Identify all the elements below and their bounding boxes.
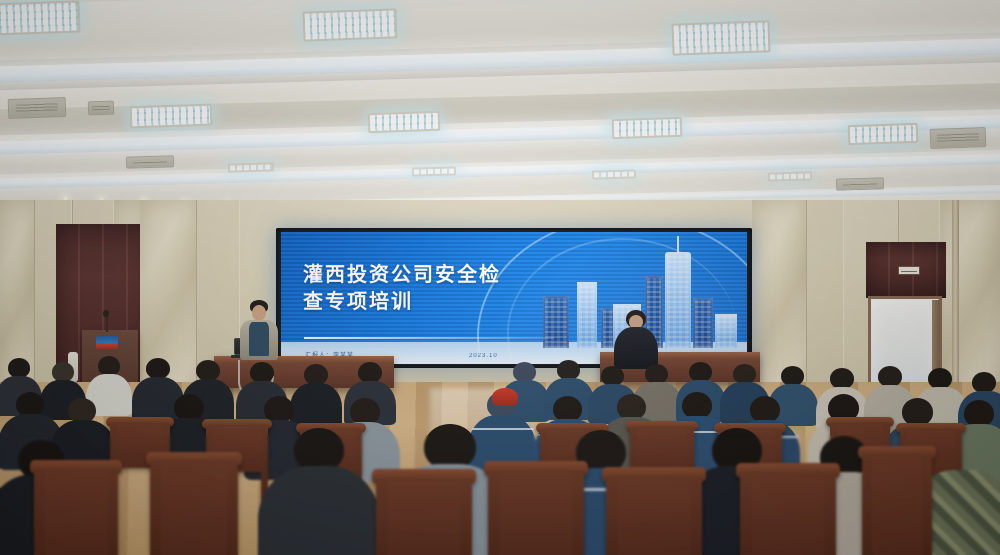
slide-surface: 灌西投资公司安全检查专项培训 汇报人：李某某 2023.10 [281, 232, 747, 364]
ac-diffuser [836, 177, 884, 190]
wooden-chair[interactable] [606, 478, 702, 555]
led-display[interactable]: 灌西投资公司安全检查专项培训 汇报人：李某某 2023.10 [276, 228, 752, 368]
exit-sign[interactable] [898, 266, 920, 275]
ceiling-panel-light [848, 123, 919, 145]
wooden-chair[interactable] [740, 474, 836, 555]
slide-date: 2023.10 [469, 353, 498, 359]
ceiling-panel-light [303, 8, 398, 41]
seated-staff-member [612, 310, 660, 366]
skyline-building [577, 282, 597, 348]
skyline-tower [665, 252, 691, 348]
wooden-chair[interactable] [150, 462, 238, 555]
ceiling-panel-light [0, 0, 81, 35]
audience-member [920, 470, 1000, 555]
ceiling [0, 0, 1000, 215]
microphone-icon [103, 310, 109, 317]
ceiling-panel-light [130, 104, 213, 129]
presenter-vest [249, 322, 269, 356]
audience-member [272, 428, 368, 555]
ceiling-panel-light [228, 162, 274, 172]
wooden-chair[interactable] [376, 480, 472, 555]
skyline-building [693, 298, 713, 348]
ceiling-panel-light [412, 166, 456, 176]
ac-diffuser [8, 97, 67, 119]
ac-diffuser [930, 127, 987, 149]
ceiling-panel-light [592, 169, 636, 179]
wooden-chair[interactable] [488, 472, 584, 555]
presenter-head [252, 305, 266, 321]
ceiling-panel-light [671, 20, 770, 55]
slide-title-rule [304, 337, 554, 339]
standing-presenter [236, 300, 282, 362]
ceiling-panel-light [368, 111, 441, 134]
company-emblem [96, 336, 118, 349]
wooden-chair[interactable] [34, 470, 118, 555]
ac-diffuser [126, 155, 174, 168]
slide-title: 灌西投资公司安全检查专项培训 [303, 262, 553, 316]
ceiling-panel-light [768, 171, 812, 181]
ceiling-panel-light [612, 117, 683, 139]
audience-member-red-cap [486, 388, 526, 418]
tower-spire [677, 236, 679, 254]
person-torso [614, 327, 658, 369]
wooden-chair[interactable] [862, 456, 932, 555]
conference-hall-photo: 灌西投资公司安全检查专项培训 汇报人：李某某 2023.10 [0, 0, 1000, 555]
skyline-building [715, 314, 737, 348]
ac-diffuser [88, 101, 114, 116]
